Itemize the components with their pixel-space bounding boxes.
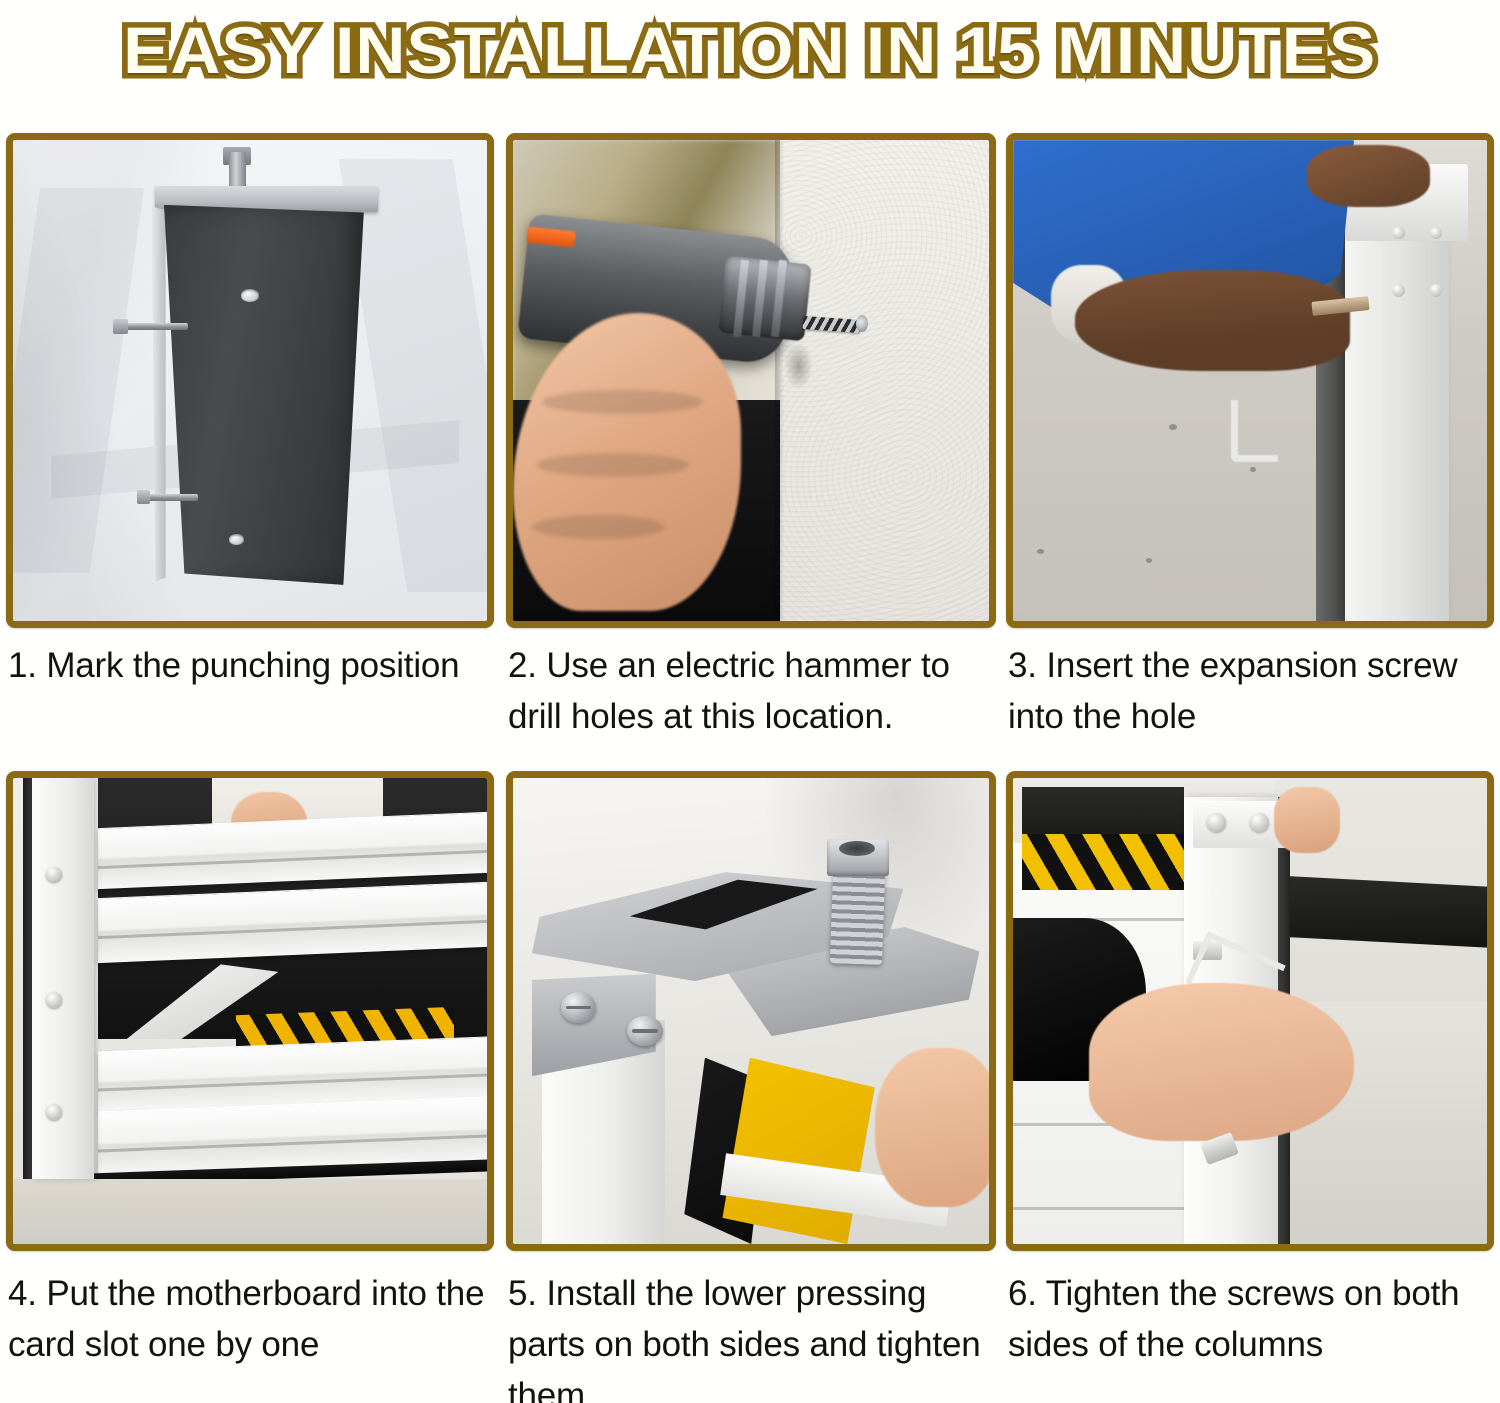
step-3-frame xyxy=(1006,133,1494,628)
step-6-caption: 6. Tighten the screws on both sides of t… xyxy=(1008,1268,1500,1370)
step-2-frame xyxy=(506,133,996,628)
step-6-image-panel xyxy=(1006,771,1494,1251)
step-6-frame xyxy=(1006,771,1494,1251)
step-2-photo xyxy=(513,140,989,621)
step-2-caption: 2. Use an electric hammer to drill holes… xyxy=(508,640,1000,742)
step-6-photo xyxy=(1013,778,1487,1244)
step-3-photo xyxy=(1013,140,1487,621)
step-4-frame xyxy=(6,771,494,1251)
installation-guide-infographic: EASY INSTALLATION IN 15 MINUTES xyxy=(0,0,1500,1403)
step-5-caption: 5. Install the lower pressing parts on b… xyxy=(508,1268,1000,1403)
step-1-image-panel xyxy=(6,133,494,628)
step-3-caption: 3. Insert the expansion screw into the h… xyxy=(1008,640,1500,742)
step-5-frame xyxy=(506,771,996,1251)
step-4-image-panel xyxy=(6,771,494,1251)
step-3-image-panel xyxy=(1006,133,1494,628)
step-5-photo xyxy=(513,778,989,1244)
step-1-frame xyxy=(6,133,494,628)
step-5-image-panel xyxy=(506,771,996,1251)
step-1-caption: 1. Mark the punching position xyxy=(8,640,500,691)
step-4-caption: 4. Put the motherboard into the card slo… xyxy=(8,1268,500,1370)
step-2-image-panel xyxy=(506,133,996,628)
step-4-photo xyxy=(13,778,487,1244)
step-1-photo xyxy=(13,140,487,621)
